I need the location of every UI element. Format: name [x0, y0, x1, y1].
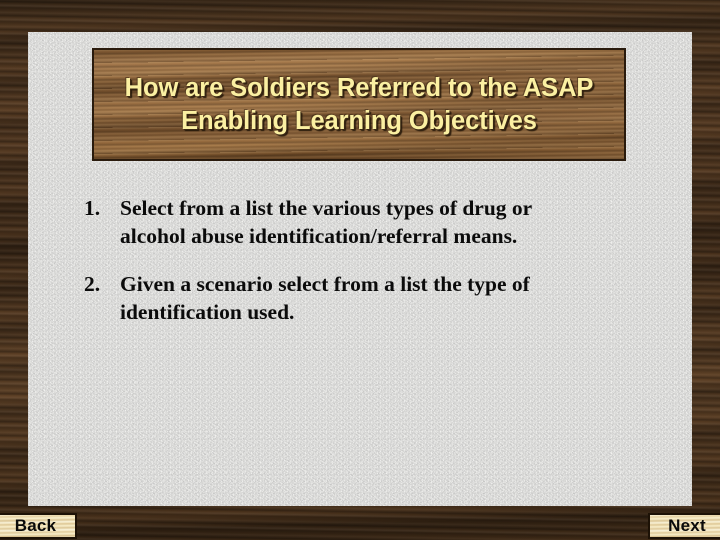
- title-plaque: How are Soldiers Referred to the ASAP En…: [92, 48, 626, 161]
- next-button[interactable]: Next: [648, 513, 720, 539]
- objectives-list: 1. Select from a list the various types …: [84, 194, 644, 346]
- list-item-number: 1.: [84, 194, 120, 222]
- list-item-number: 2.: [84, 270, 120, 298]
- slide-title-line-1: How are Soldiers Referred to the ASAP: [125, 72, 594, 105]
- list-item-text: Select from a list the various types of …: [120, 194, 590, 250]
- next-button-label: Next: [668, 516, 706, 536]
- list-item-text: Given a scenario select from a list the …: [120, 270, 590, 326]
- list-item: 1. Select from a list the various types …: [84, 194, 644, 250]
- content-panel: How are Soldiers Referred to the ASAP En…: [28, 32, 692, 506]
- back-button[interactable]: Back: [0, 513, 77, 539]
- list-item: 2. Given a scenario select from a list t…: [84, 270, 644, 326]
- back-button-label: Back: [15, 516, 56, 536]
- slide-title-line-2: Enabling Learning Objectives: [181, 105, 537, 138]
- slide-root: How are Soldiers Referred to the ASAP En…: [0, 0, 720, 540]
